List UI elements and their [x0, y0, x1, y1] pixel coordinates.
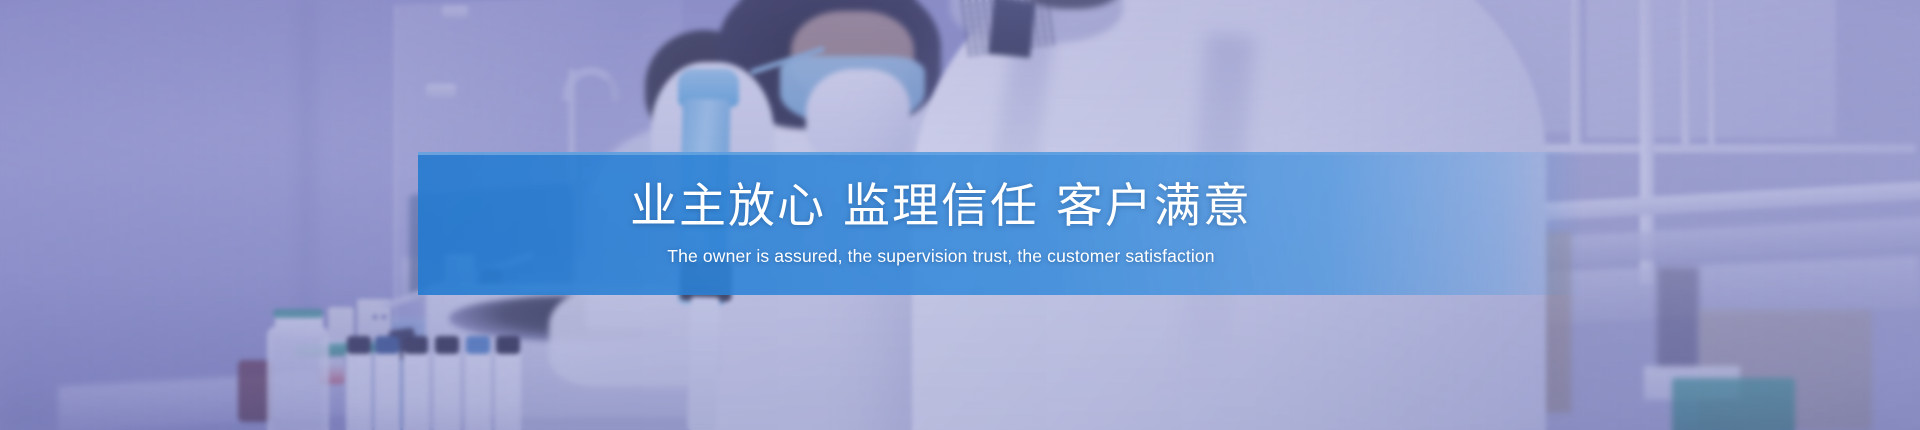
water-bottle-cap — [273, 309, 323, 318]
window-mullion — [1682, 0, 1690, 146]
glass-clip-upper — [442, 6, 468, 18]
sample-vial — [346, 350, 372, 430]
sample-vial — [465, 350, 491, 430]
sample-vial — [374, 350, 400, 430]
window-mullion — [1571, 0, 1581, 146]
necktie — [988, 0, 1036, 58]
banner-caption: 业主放心 监理信任 客户满意 The owner is assured, the… — [418, 152, 1584, 295]
glass-clip — [426, 84, 456, 98]
banner-subline: The owner is assured, the supervision tr… — [667, 246, 1214, 267]
banner-headline: 业主放心 监理信任 客户满意 — [630, 180, 1252, 234]
sample-vial — [403, 350, 429, 430]
shelf-gap-shadow — [1657, 267, 1699, 370]
pipette-tip — [688, 296, 720, 430]
sample-vial — [434, 350, 460, 430]
gloved-hand — [806, 69, 910, 164]
window-mullion — [1709, 0, 1715, 146]
hero-banner: 业主放心 监理信任 客户满意 The owner is assured, the… — [0, 0, 1920, 430]
sample-vial — [495, 350, 521, 430]
water-bottle — [267, 326, 329, 430]
outlet-socket-holes — [372, 312, 388, 323]
teal-box — [1672, 378, 1795, 430]
